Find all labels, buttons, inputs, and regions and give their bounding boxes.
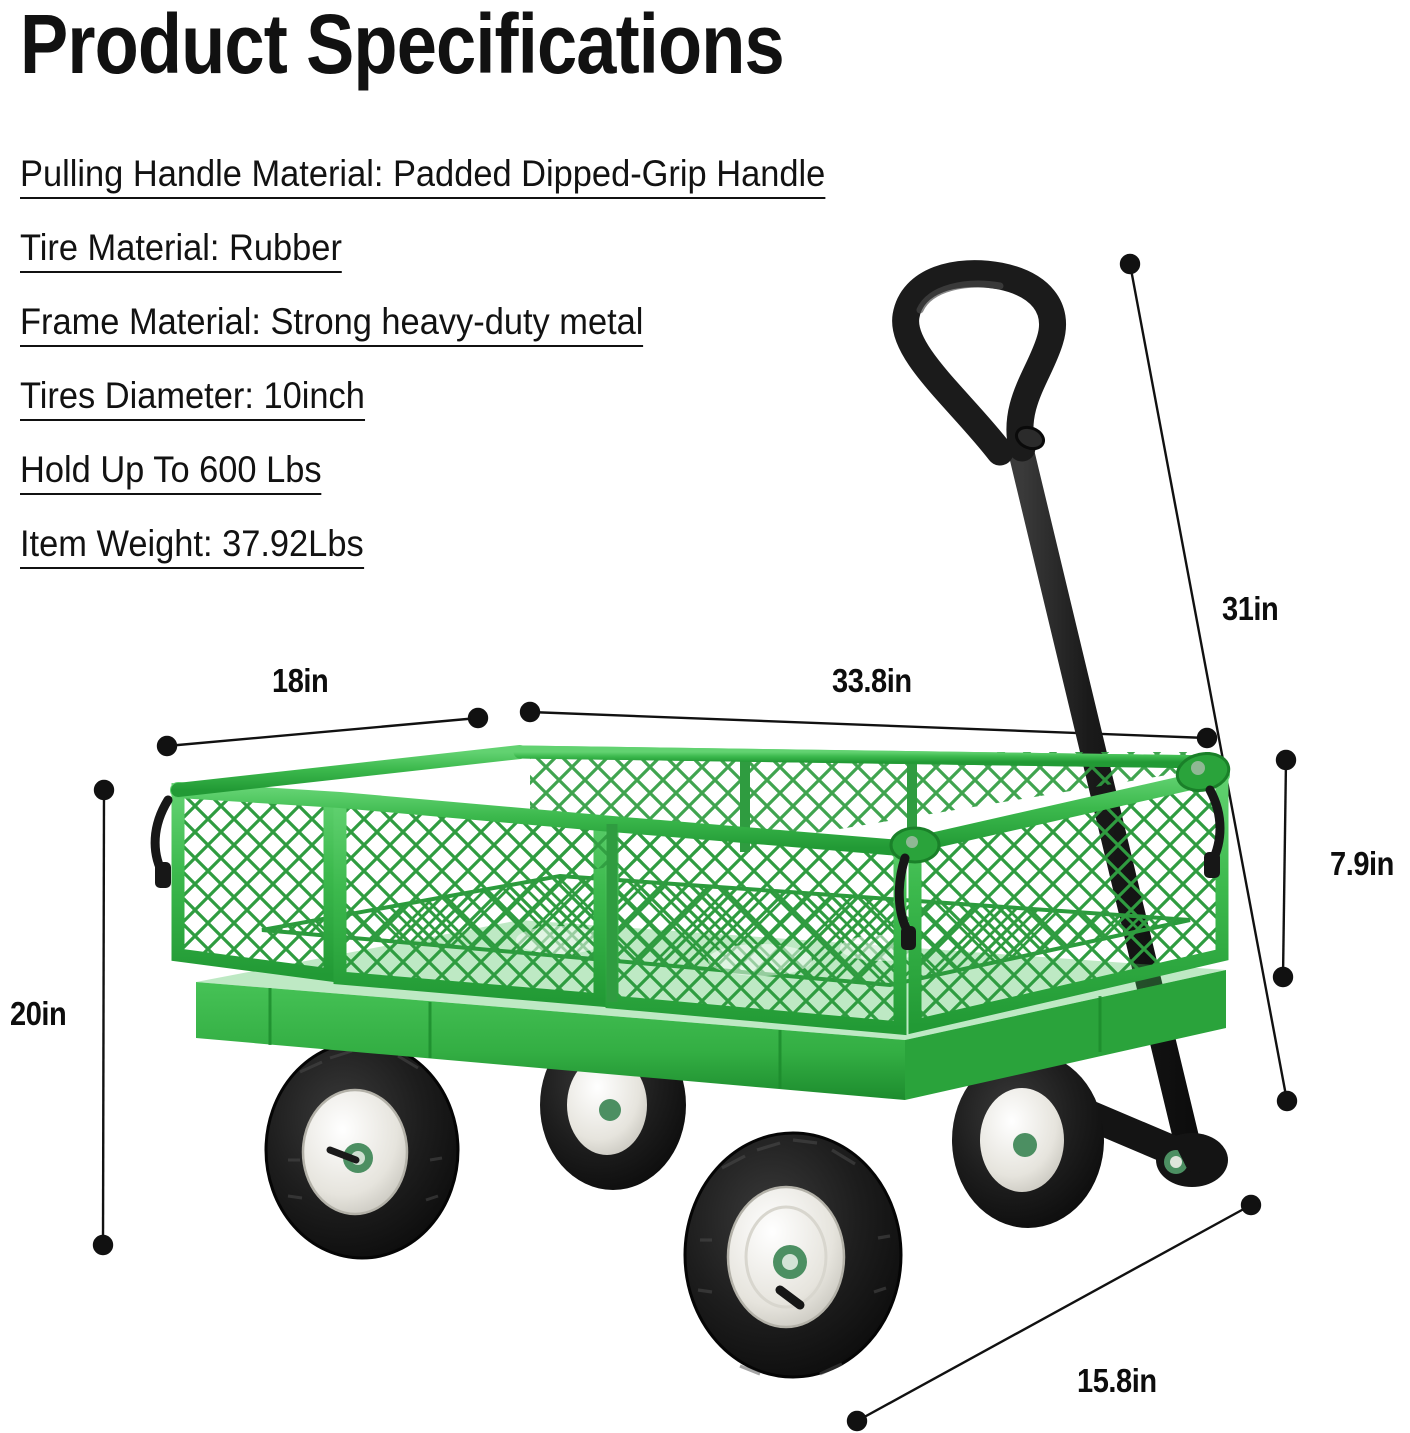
dimension-label-length: 33.8in	[832, 662, 912, 700]
side-panel-front-right	[612, 824, 900, 1028]
dimension-label-overall-height: 20in	[10, 995, 66, 1033]
dimension-line-side-rail-height	[1274, 751, 1295, 986]
spec-item-item-weight: Item Weight: 37.92Lbs	[20, 525, 997, 599]
dimension-label-width: 18in	[272, 662, 328, 700]
spec-item-frame-material: Frame Material: Strong heavy-duty metal	[20, 303, 997, 377]
corner-bracket-mid	[891, 828, 939, 862]
wheel-front-left	[685, 1133, 901, 1377]
side-panel-front-left	[340, 800, 600, 1000]
page-title: Product Specifications	[20, 2, 784, 86]
corner-posts	[178, 775, 1222, 1030]
spec-item-label: Tires Diameter: 10inch	[20, 377, 365, 421]
dimension-line-depth	[848, 1196, 1260, 1430]
dimension-label-handle-height: 31in	[1222, 590, 1278, 628]
spec-item-label: Item Weight: 37.92Lbs	[20, 525, 364, 569]
spec-item-tire-material: Tire Material: Rubber	[20, 229, 997, 303]
dimension-line-handle-height	[1121, 255, 1296, 1110]
corner-bracket	[1174, 749, 1232, 795]
spec-item-pulling-handle-material: Pulling Handle Material: Padded Dipped-G…	[20, 155, 997, 229]
spec-item-load-capacity: Hold Up To 600 Lbs	[20, 451, 997, 525]
spec-item-label: Tire Material: Rubber	[20, 229, 342, 273]
spec-item-label: Hold Up To 600 Lbs	[20, 451, 322, 495]
cart-body	[155, 749, 1232, 1100]
dimension-line-width	[158, 709, 487, 755]
dimension-line-length	[521, 703, 1216, 747]
dimension-line-overall-height	[94, 781, 113, 1254]
side-panel-left-end	[178, 790, 330, 975]
dimension-label-side-rail-height: 7.9in	[1330, 845, 1394, 883]
spec-item-label: Pulling Handle Material: Padded Dipped-G…	[20, 155, 825, 199]
spec-item-label: Frame Material: Strong heavy-duty metal	[20, 303, 643, 347]
side-panel-right-end	[915, 775, 1222, 1026]
wheel-rear-right	[540, 1020, 686, 1190]
latch-straps	[155, 790, 1220, 932]
specification-list: Pulling Handle Material: Padded Dipped-G…	[20, 155, 1070, 599]
spec-item-tires-diameter: Tires Diameter: 10inch	[20, 377, 997, 451]
product-specifications-page: Product Specifications Pulling Handle Ma…	[0, 0, 1410, 1433]
top-rails	[178, 752, 1222, 848]
wheel-front-right	[952, 1052, 1104, 1228]
dimension-label-depth: 15.8in	[1077, 1362, 1157, 1400]
side-panel-back	[520, 752, 1215, 884]
wheel-rear-left	[266, 1042, 458, 1258]
front-axle-assembly	[1030, 1090, 1228, 1187]
